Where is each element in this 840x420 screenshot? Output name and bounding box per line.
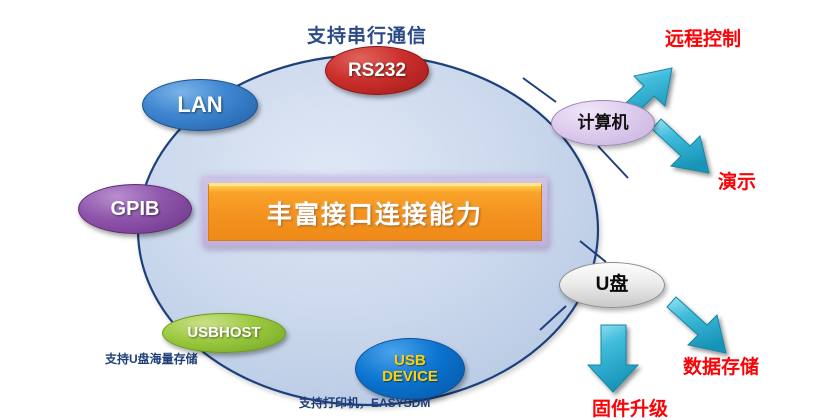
interface-node-usb-device[interactable]: USB DEVICE xyxy=(355,338,465,400)
caption-serial-communication: 支持串行通信 xyxy=(307,21,427,48)
connector-computer-upper xyxy=(523,78,556,102)
arrow-demonstration xyxy=(652,119,709,173)
arrow-firmware-upgrade xyxy=(588,325,638,392)
center-banner-title: 丰富接口连接能力 xyxy=(267,195,483,231)
interface-node-lan[interactable]: LAN xyxy=(142,79,258,131)
outcome-label-data-storage: 数据存储 xyxy=(683,352,759,379)
connector-computer-lower xyxy=(598,146,628,178)
outcome-label-remote-control: 远程控制 xyxy=(665,24,741,51)
caption-usbhost-note: 支持U盘海量存储 xyxy=(105,350,198,367)
endpoint-node-udisk[interactable]: U盘 xyxy=(559,262,665,308)
center-banner: 丰富接口连接能力 xyxy=(203,178,547,246)
interface-label-gpib: GPIB xyxy=(79,199,191,220)
endpoint-label-udisk: U盘 xyxy=(560,275,664,295)
diagram-canvas: LAN RS232 GPIB USBHOST USB DEVICE 计算机 U盘… xyxy=(0,0,840,420)
interface-label-usb-device: USB DEVICE xyxy=(356,353,464,385)
center-banner-inner: 丰富接口连接能力 xyxy=(208,183,542,241)
interface-node-gpib[interactable]: GPIB xyxy=(78,184,192,234)
endpoint-label-computer: 计算机 xyxy=(552,114,654,132)
interface-node-rs232[interactable]: RS232 xyxy=(325,46,429,95)
arrow-data-storage xyxy=(667,297,726,353)
interface-node-usbhost[interactable]: USBHOST xyxy=(162,313,286,353)
interface-label-rs232: RS232 xyxy=(326,61,428,81)
interface-label-usbhost: USBHOST xyxy=(163,325,285,341)
endpoint-node-computer[interactable]: 计算机 xyxy=(551,100,655,146)
caption-usb-device-note: 支持打印机，EASYSDM xyxy=(299,394,430,411)
outcome-label-demonstration: 演示 xyxy=(718,167,756,194)
outcome-label-firmware-upgrade: 固件升级 xyxy=(592,394,668,420)
interface-label-lan: LAN xyxy=(143,93,257,116)
